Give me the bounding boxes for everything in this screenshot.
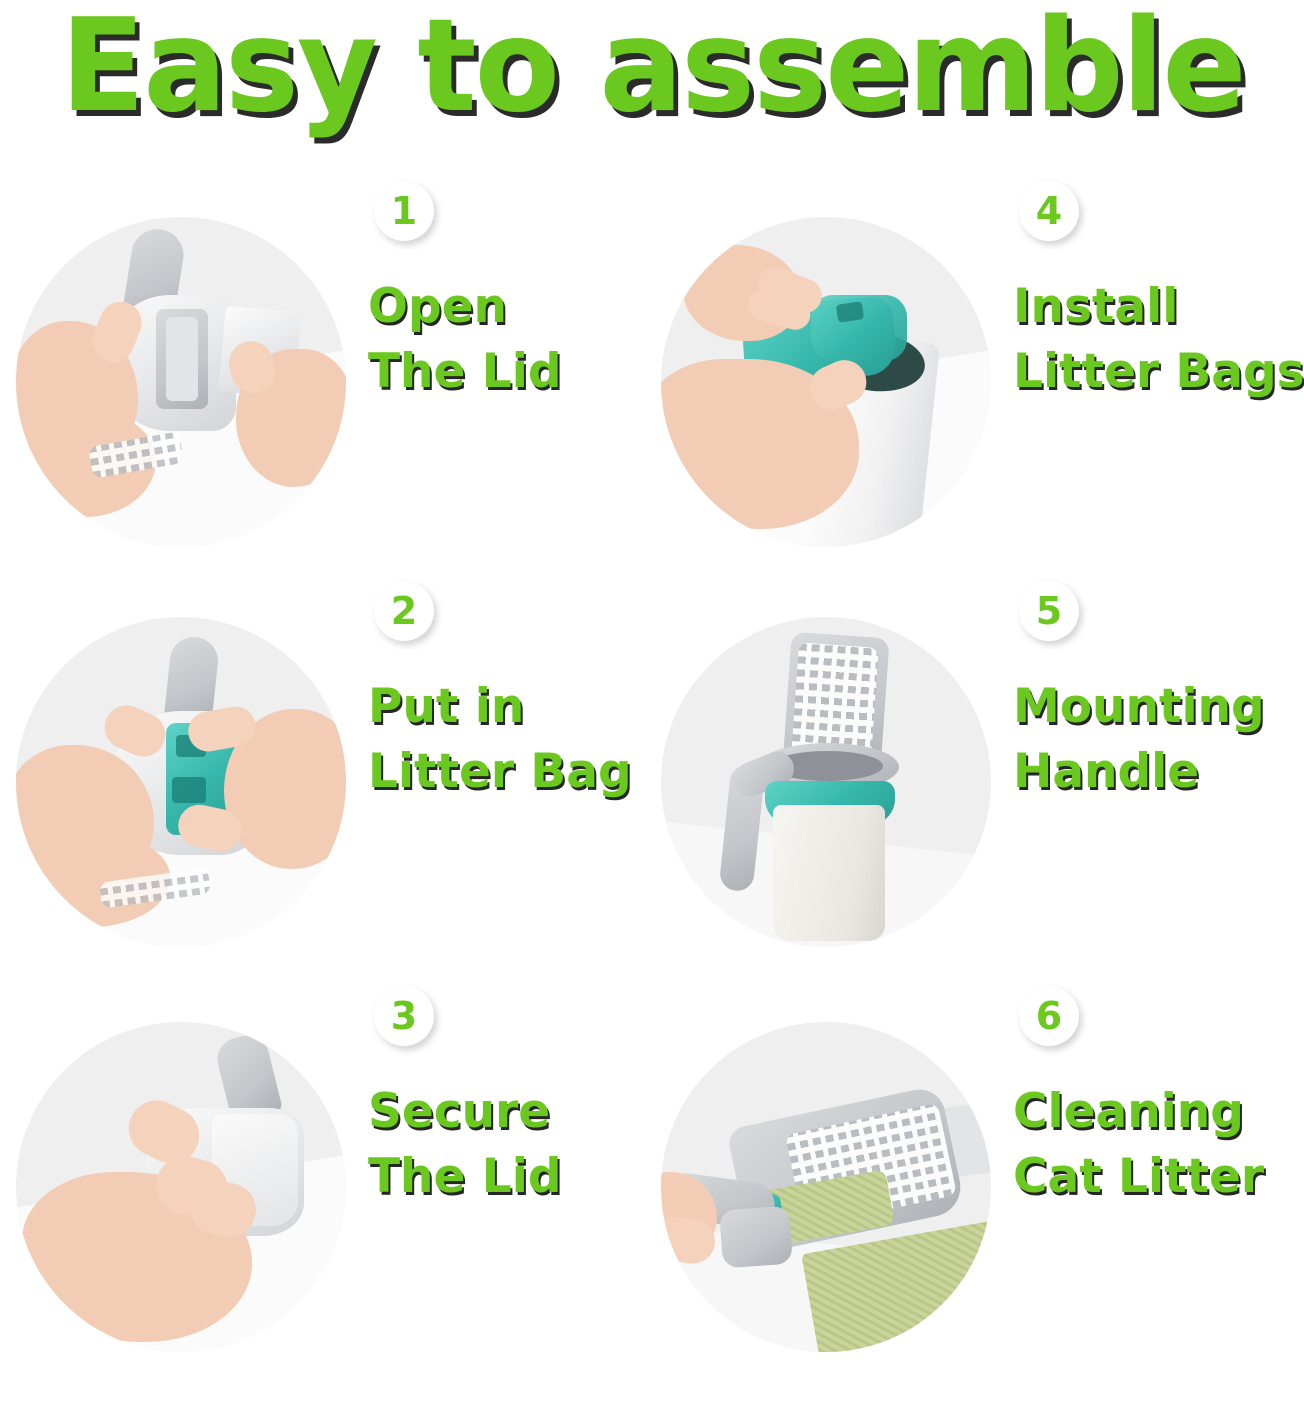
- step-label-2-line1: Put in: [368, 681, 632, 734]
- step-card-1: 1 Open The Lid: [0, 175, 652, 584]
- step-label-1-line1: Open: [368, 281, 561, 334]
- step-label-5-line1: Mounting: [1013, 681, 1265, 734]
- step-label-5-line2: Handle: [1013, 746, 1265, 799]
- step-card-4: 4 Install Litter Bags: [645, 175, 1297, 584]
- step-card-3: 3 Secure The Lid: [0, 980, 652, 1389]
- step-label-3-line1: Secure: [368, 1086, 561, 1139]
- step-photo-4: [661, 217, 991, 547]
- step-label-4-line2: Litter Bags: [1013, 346, 1304, 399]
- step-badge-5: 5: [1019, 581, 1079, 641]
- title-bar: Easy to assemble: [0, 0, 1304, 175]
- step-photo-2: [16, 617, 346, 947]
- step-caption-4: 4 Install Litter Bags: [991, 175, 1304, 398]
- steps-grid: 1 Open The Lid: [0, 175, 1304, 1401]
- step-photo-1: [16, 217, 346, 547]
- step-badge-4: 4: [1019, 181, 1079, 241]
- step-badge-3: 3: [374, 986, 434, 1046]
- step-card-6: 6 Cleaning Cat Litter: [645, 980, 1297, 1389]
- step-label-6-line1: Cleaning: [1013, 1086, 1264, 1139]
- step-photo-3: [16, 1022, 346, 1352]
- step-label-1-line2: The Lid: [368, 346, 561, 399]
- step-label-6-line2: Cat Litter: [1013, 1151, 1264, 1204]
- step-label-2-line2: Litter Bag: [368, 746, 632, 799]
- step-caption-6: 6 Cleaning Cat Litter: [991, 980, 1297, 1203]
- step-label-4-line1: Install: [1013, 281, 1304, 334]
- step-badge-1: 1: [374, 181, 434, 241]
- step-badge-6: 6: [1019, 986, 1079, 1046]
- step-card-2: 2 Put in Litter Bag: [0, 575, 652, 984]
- step-badge-2: 2: [374, 581, 434, 641]
- step-caption-3: 3 Secure The Lid: [346, 980, 652, 1203]
- step-photo-6: [661, 1022, 991, 1352]
- step-caption-1: 1 Open The Lid: [346, 175, 652, 398]
- page-title: Easy to assemble: [60, 2, 1244, 133]
- step-label-3-line2: The Lid: [368, 1151, 561, 1204]
- step-card-5: 5 Mounting Handle: [645, 575, 1297, 984]
- step-caption-2: 2 Put in Litter Bag: [346, 575, 652, 798]
- step-photo-5: [661, 617, 991, 947]
- step-caption-5: 5 Mounting Handle: [991, 575, 1297, 798]
